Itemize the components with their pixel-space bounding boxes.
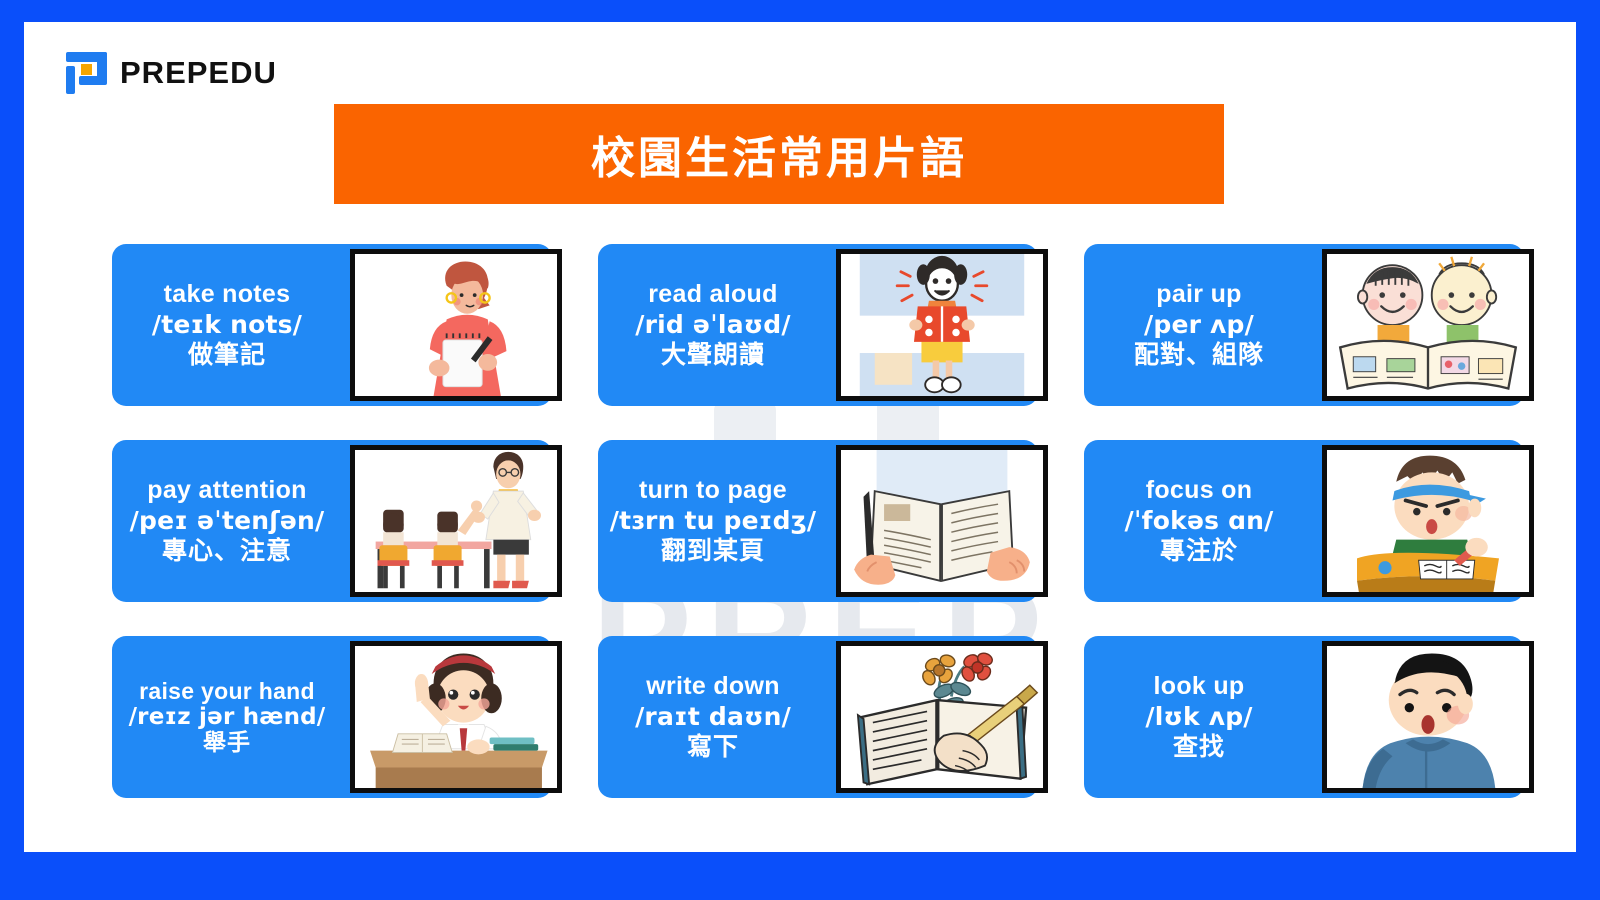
phrase-chinese: 配對、組隊: [1092, 340, 1306, 371]
phrase-chinese: 舉手: [120, 730, 334, 756]
phrase-chinese: 翻到某頁: [606, 536, 820, 567]
phrase-card[interactable]: read aloud /rid əˈlaʊd/ 大聲朗讀: [598, 244, 1038, 406]
phrase-card-text: pair up /per ʌp/ 配對、組隊: [1084, 279, 1306, 371]
phrase-card[interactable]: focus on /ˈfokəs ɑn/ 專注於: [1084, 440, 1524, 602]
hand-writing-in-book-icon: [836, 641, 1048, 793]
phrase-card[interactable]: pair up /per ʌp/ 配對、組隊: [1084, 244, 1524, 406]
phrase-english: read aloud: [606, 279, 820, 310]
phrase-chinese: 專心、注意: [120, 536, 334, 567]
phrase-ipa: /peɪ əˈtenʃən/: [120, 506, 334, 537]
phrase-english: write down: [606, 671, 820, 702]
header: PREPEDU 校園生活常用片語: [24, 22, 1576, 202]
teacher-with-students-icon: [350, 445, 562, 597]
woman-with-notepad-icon: [350, 249, 562, 401]
boy-headband-studying-icon: [1322, 445, 1534, 597]
phrase-card[interactable]: pay attention /peɪ əˈtenʃən/ 專心、注意: [112, 440, 552, 602]
phrase-card-text: raise your hand /reɪz jər hænd/ 舉手: [112, 678, 334, 757]
phrase-ipa: /teɪk nots/: [120, 310, 334, 341]
brand-logo[interactable]: PREPEDU: [66, 52, 277, 94]
phrase-english: focus on: [1092, 475, 1306, 506]
two-kids-sharing-book-icon: [1322, 249, 1534, 401]
phrase-ipa: /ˈfokəs ɑn/: [1092, 506, 1306, 537]
phrase-english: pay attention: [120, 475, 334, 506]
poster-sheet: PREP PREPEDU 校園生活常用片語 take notes: [24, 22, 1576, 852]
hands-holding-open-book-icon: [836, 445, 1048, 597]
phrase-ipa: /tɜrn tu peɪdʒ/: [606, 506, 820, 537]
girl-reading-book-aloud-icon: [836, 249, 1048, 401]
title-banner: 校園生活常用片語: [334, 104, 1224, 204]
girl-raising-hand-at-desk-icon: [350, 641, 562, 793]
phrase-card[interactable]: write down /raɪt daʊn/ 寫下: [598, 636, 1038, 798]
phrase-card-text: focus on /ˈfokəs ɑn/ 專注於: [1084, 475, 1306, 567]
phrase-chinese: 大聲朗讀: [606, 340, 820, 371]
phrase-card[interactable]: turn to page /tɜrn tu peɪdʒ/ 翻到某頁: [598, 440, 1038, 602]
phrase-ipa: /raɪt daʊn/: [606, 702, 820, 733]
phrase-chinese: 查找: [1092, 732, 1306, 763]
phrase-chinese: 專注於: [1092, 536, 1306, 567]
phrase-card-text: read aloud /rid əˈlaʊd/ 大聲朗讀: [598, 279, 820, 371]
phrase-card-text: write down /raɪt daʊn/ 寫下: [598, 671, 820, 763]
phrase-card[interactable]: take notes /teɪk nots/ 做筆記: [112, 244, 552, 406]
phrase-card[interactable]: raise your hand /reɪz jər hænd/ 舉手: [112, 636, 552, 798]
phrase-card-grid: take notes /teɪk nots/ 做筆記: [112, 244, 1524, 798]
page-title: 校園生活常用片語: [591, 122, 967, 186]
brand-logo-text: PREPEDU: [120, 55, 277, 91]
boy-looking-up-icon: [1322, 641, 1534, 793]
phrase-english: pair up: [1092, 279, 1306, 310]
prep-p-mark-icon: [66, 52, 108, 94]
phrase-card-text: turn to page /tɜrn tu peɪdʒ/ 翻到某頁: [598, 475, 820, 567]
phrase-ipa: /reɪz jər hænd/: [120, 704, 334, 730]
phrase-chinese: 寫下: [606, 732, 820, 763]
phrase-ipa: /per ʌp/: [1092, 310, 1306, 341]
phrase-ipa: /rid əˈlaʊd/: [606, 310, 820, 341]
phrase-english: take notes: [120, 279, 334, 310]
phrase-card[interactable]: look up /lʊk ʌp/ 查找: [1084, 636, 1524, 798]
phrase-card-text: pay attention /peɪ əˈtenʃən/ 專心、注意: [112, 475, 334, 567]
poster-page: PREP PREPEDU 校園生活常用片語 take notes: [0, 0, 1600, 900]
phrase-english: turn to page: [606, 475, 820, 506]
phrase-chinese: 做筆記: [120, 340, 334, 371]
phrase-english: look up: [1092, 671, 1306, 702]
phrase-card-text: take notes /teɪk nots/ 做筆記: [112, 279, 334, 371]
phrase-english: raise your hand: [120, 678, 334, 704]
phrase-card-text: look up /lʊk ʌp/ 查找: [1084, 671, 1306, 763]
phrase-ipa: /lʊk ʌp/: [1092, 702, 1306, 733]
